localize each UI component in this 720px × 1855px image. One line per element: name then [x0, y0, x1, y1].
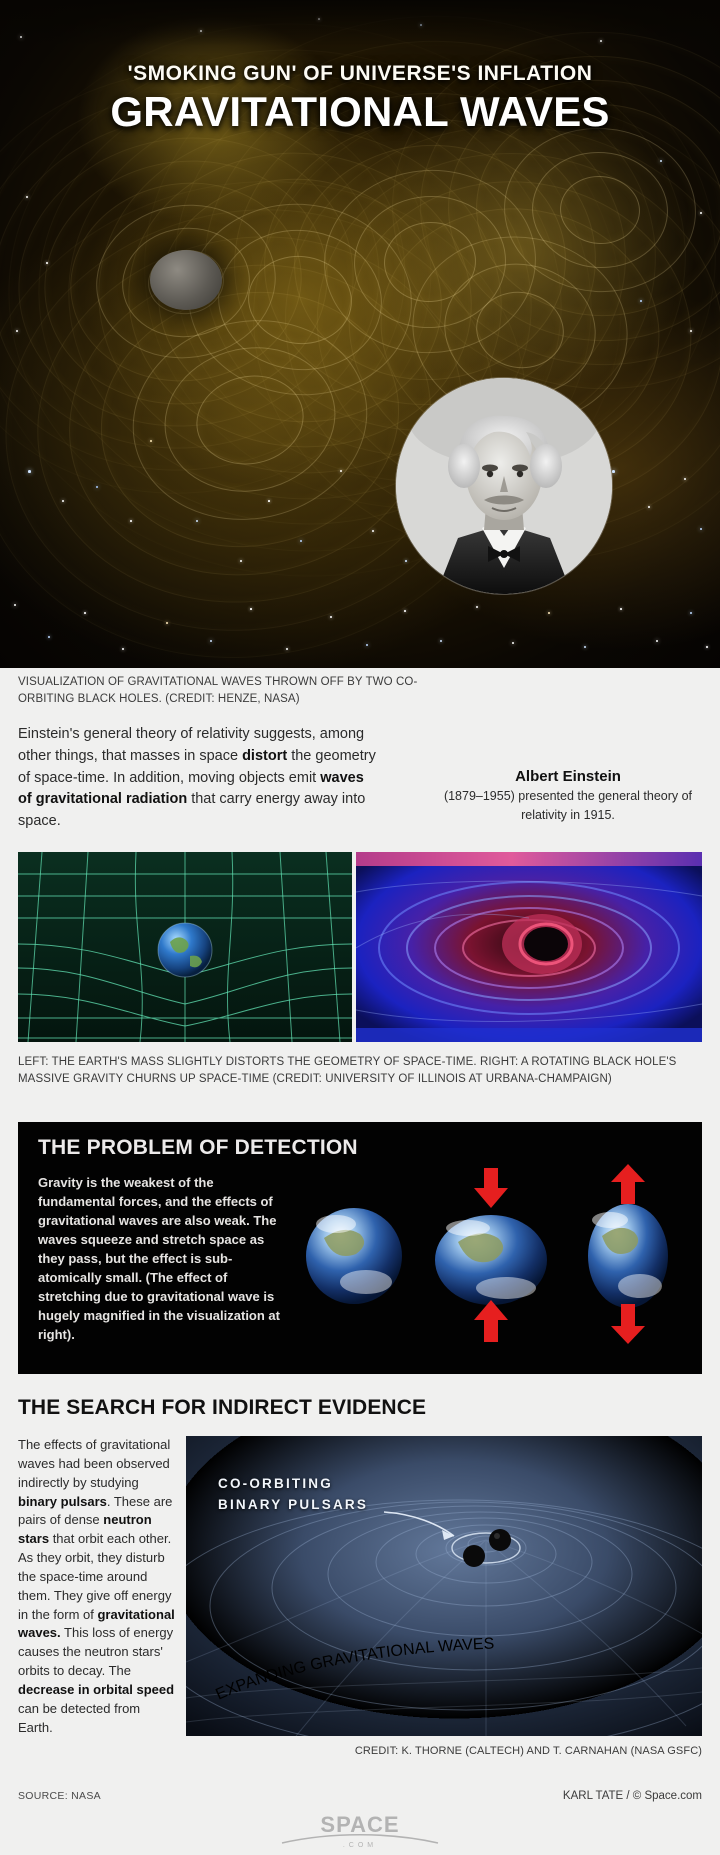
- evidence-text-1: The effects of gravitational waves had b…: [18, 1437, 170, 1490]
- byline-label: KARL TATE / © Space.com: [563, 1790, 702, 1802]
- detection-section: THE PROBLEM OF DETECTION Gravity is the …: [18, 1122, 702, 1374]
- pulsar-star-b: [463, 1545, 485, 1567]
- hero-title-block: 'SMOKING GUN' OF UNIVERSE'S INFLATION GR…: [0, 62, 720, 135]
- evidence-body: The effects of gravitational waves had b…: [18, 1436, 176, 1738]
- stretch-arrow-up-icon: [611, 1164, 645, 1204]
- pulsar-credit: CREDIT: K. THORNE (CALTECH) AND T. CARNA…: [300, 1745, 702, 1757]
- intro-bold-distort: distort: [242, 748, 287, 764]
- stretch-arrow-down-icon: [611, 1304, 645, 1344]
- einstein-detail: (1879–1955) presented the general theory…: [438, 787, 698, 825]
- co-orbiting-label-line2: BINARY PULSARS: [218, 1495, 368, 1516]
- page-title: GRAVITATIONAL WAVES: [0, 90, 720, 135]
- black-hole-spacetime-image: [356, 852, 702, 1042]
- infographic-page: 'SMOKING GUN' OF UNIVERSE'S INFLATION GR…: [0, 0, 720, 1855]
- binary-pulsar-diagram: EXPANDING GRAVITATIONAL WAVES CO-ORBITIN…: [186, 1436, 702, 1736]
- hero-caption: VISUALIZATION OF GRAVITATIONAL WAVES THR…: [18, 674, 418, 707]
- panels-caption: LEFT: THE EARTH'S MASS SLIGHTLY DISTORTS…: [18, 1054, 708, 1087]
- pulsar-star-a: [489, 1529, 511, 1551]
- squeeze-arrow-down-icon: [474, 1168, 508, 1208]
- evidence-bold-binary-pulsars: binary pulsars: [18, 1494, 107, 1509]
- black-hole-spacetime-panel: [356, 852, 702, 1042]
- page-kicker: 'SMOKING GUN' OF UNIVERSE'S INFLATION: [0, 62, 720, 86]
- space-com-logo[interactable]: SPACE .COM: [0, 1812, 720, 1849]
- evidence-title: THE SEARCH FOR INDIRECT EVIDENCE: [18, 1396, 426, 1420]
- evidence-text-5: can be detected from Earth.: [18, 1701, 140, 1735]
- earth-stretched: [588, 1204, 668, 1308]
- spacetime-grid-image: [18, 852, 352, 1042]
- earth-deformation-diagram: [296, 1164, 686, 1344]
- einstein-portrait-image: [396, 378, 612, 594]
- einstein-caption: Albert Einstein (1879–1955) presented th…: [438, 768, 698, 825]
- hero-section: 'SMOKING GUN' OF UNIVERSE'S INFLATION GR…: [0, 0, 720, 668]
- detection-title: THE PROBLEM OF DETECTION: [38, 1136, 358, 1160]
- earth-normal: [306, 1208, 402, 1304]
- earth-squeezed: [435, 1215, 547, 1305]
- black-hole-icon: [150, 250, 222, 310]
- squeeze-arrow-up-icon: [474, 1300, 508, 1342]
- detection-body: Gravity is the weakest of the fundamenta…: [38, 1174, 288, 1345]
- earth-squeeze-illustration: [296, 1164, 686, 1344]
- einstein-portrait: [396, 378, 612, 594]
- illustration-panels: [18, 852, 702, 1042]
- co-orbiting-label: CO-ORBITING BINARY PULSARS: [218, 1474, 368, 1516]
- intro-paragraph: Einstein's general theory of relativity …: [18, 724, 376, 833]
- co-orbiting-label-line1: CO-ORBITING: [218, 1474, 368, 1495]
- hero-top-fade: [0, 0, 720, 46]
- source-label: SOURCE: NASA: [18, 1790, 101, 1802]
- einstein-name: Albert Einstein: [438, 768, 698, 785]
- spacetime-grid-panel: [18, 852, 352, 1042]
- logo-subtext: .COM: [0, 1842, 720, 1849]
- evidence-bold-decrease-speed: decrease in orbital speed: [18, 1682, 174, 1697]
